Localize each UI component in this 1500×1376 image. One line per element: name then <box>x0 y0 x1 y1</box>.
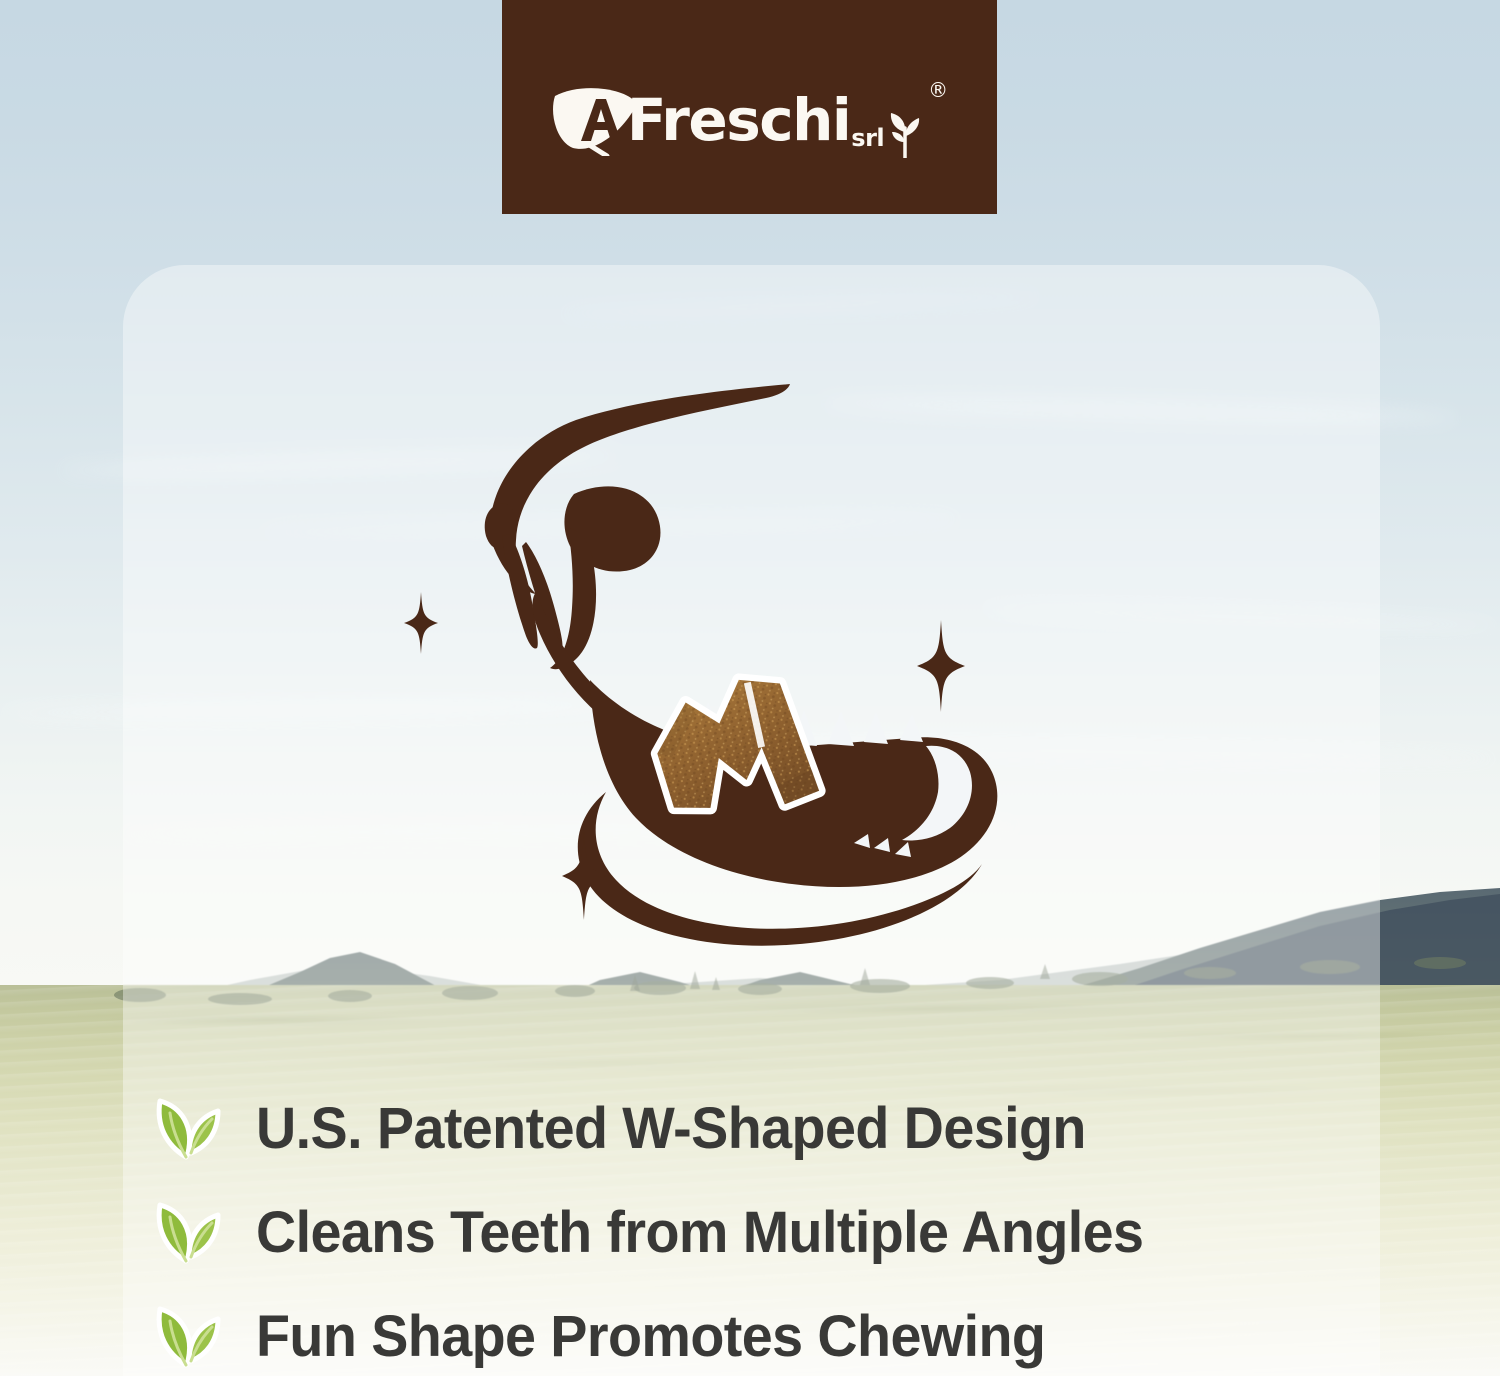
feature-label: Fun Shape Promotes Chewing <box>256 1307 1045 1367</box>
sparkle-small-icon <box>404 592 438 654</box>
feature-label: U.S. Patented W-Shaped Design <box>256 1099 1086 1159</box>
logo-suffix: srl <box>851 124 884 152</box>
two-leaf-sprout-icon <box>148 1091 224 1167</box>
sparkle-medium-icon <box>562 832 606 920</box>
feature-item: Cleans Teeth from Multiple Angles <box>148 1181 1408 1285</box>
two-leaf-sprout-icon <box>148 1195 224 1271</box>
sparkle-large-icon <box>917 620 965 712</box>
registered-trademark-symbol: ® <box>928 78 948 102</box>
sprout-icon <box>884 106 926 158</box>
product-feature-graphic: Freschi srl ® <box>0 0 1500 1376</box>
feature-item: Fun Shape Promotes Chewing <box>148 1285 1408 1376</box>
two-leaf-sprout-icon <box>148 1299 224 1375</box>
feature-item: U.S. Patented W-Shaped Design <box>148 1077 1408 1181</box>
brand-logo-banner: Freschi srl ® <box>502 0 997 214</box>
feature-list: U.S. Patented W-Shaped Design Cleans Tee… <box>148 1077 1408 1376</box>
logo-wordmark: Freschi <box>627 91 850 149</box>
feature-label: Cleans Teeth from Multiple Angles <box>256 1203 1143 1263</box>
logo-lockup: Freschi srl ® <box>551 84 948 156</box>
